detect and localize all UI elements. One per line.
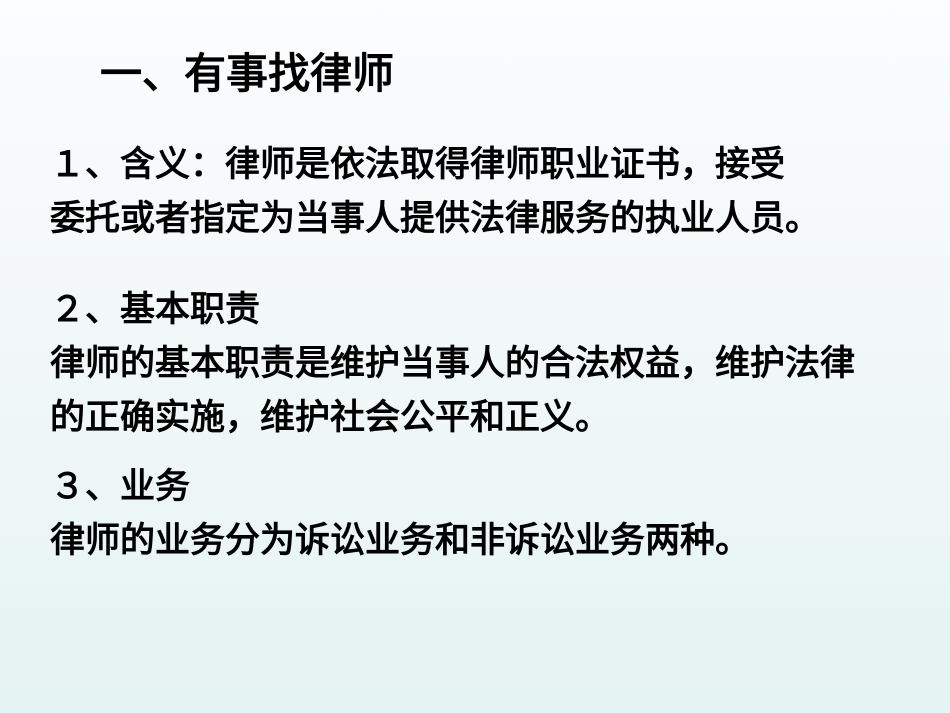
text-run: ３、业务 [50, 467, 190, 507]
content-section-1: １、含义：律师是依法取得律师职业证书，接受委托或者指定为当事人提供法律服务的执业… [50, 138, 940, 246]
text-run: 律师的业务分为 [50, 521, 295, 561]
text-run: 委托或者指定为当事人提供 [50, 199, 470, 239]
text-line: ２、基本职责 [50, 283, 940, 337]
text-run: ，接受 [680, 145, 785, 185]
text-line: ３、业务 [50, 460, 940, 514]
text-run: 律师的基本职责是维护当事人的 [50, 344, 540, 384]
highlighted-term: 职业证书 [540, 145, 680, 185]
text-run: 的执业人员。 [610, 199, 820, 239]
text-run: 的 [50, 398, 85, 438]
text-line: 委托或者指定为当事人提供法律服务的执业人员。 [50, 192, 940, 246]
text-run: 两种。 [645, 521, 750, 561]
text-run: ，维护社会 [225, 398, 400, 438]
highlighted-term: 正确实施 [85, 398, 225, 438]
highlighted-term: 公平和正义 [400, 398, 575, 438]
text-run: １、含义：律师是依法取得律师 [50, 145, 540, 185]
text-run: ２、基本职责 [50, 290, 260, 330]
text-line: 律师的基本职责是维护当事人的合法权益，维护法律 [50, 337, 940, 391]
page-title: 一、有事找律师 [100, 50, 394, 97]
highlighted-term: 法律服务 [470, 199, 610, 239]
text-line: １、含义：律师是依法取得律师职业证书，接受 [50, 138, 940, 192]
text-line: 律师的业务分为诉讼业务和非诉讼业务两种。 [50, 514, 940, 568]
slide-canvas: 一、有事找律师 １、含义：律师是依法取得律师职业证书，接受委托或者指定为当事人提… [0, 0, 950, 713]
text-line: 的正确实施，维护社会公平和正义。 [50, 391, 940, 445]
highlighted-term: 诉讼业务 [295, 521, 435, 561]
text-run: 和 [435, 521, 470, 561]
content-section-3: ３、业务律师的业务分为诉讼业务和非诉讼业务两种。 [50, 460, 940, 568]
text-run: ，维护法律 [680, 344, 855, 384]
text-run: 。 [575, 398, 610, 438]
highlighted-term: 合法权益 [540, 344, 680, 384]
content-section-2: ２、基本职责律师的基本职责是维护当事人的合法权益，维护法律的正确实施，维护社会公… [50, 283, 940, 445]
highlighted-term: 非诉讼业务 [470, 521, 645, 561]
